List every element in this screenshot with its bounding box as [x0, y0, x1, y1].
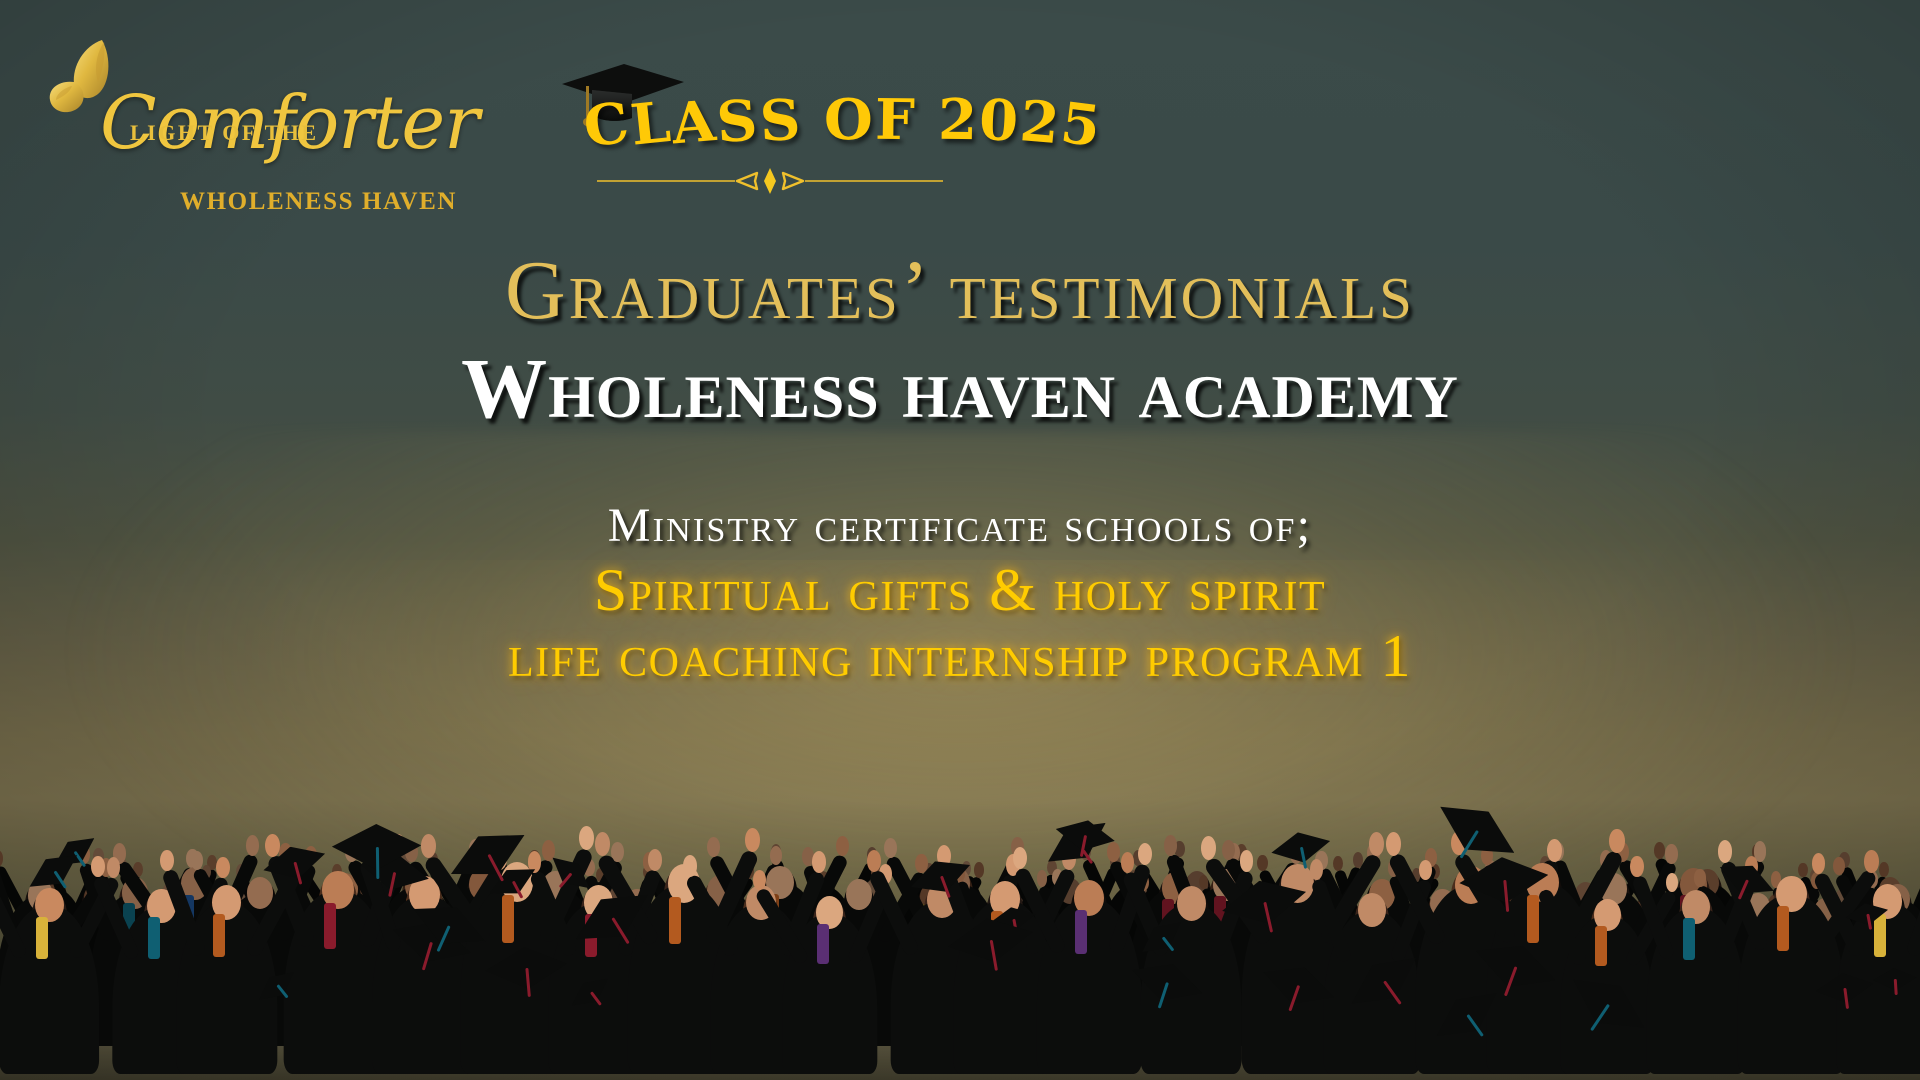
graduation-stole [1683, 918, 1695, 960]
program-line-2: life coaching internship program 1 [0, 622, 1920, 691]
graduate-figure [1829, 829, 1920, 1074]
flying-graduation-cap [1872, 967, 1918, 1000]
graduate-hand [1013, 847, 1027, 869]
graduate-hand [595, 832, 610, 856]
brand-logo: Comforter LIGHT OF THE WHOLENESS HAVEN [44, 28, 384, 208]
graduate-head [1358, 893, 1386, 927]
class-of-text: CLASS OF 2025 [584, 92, 1102, 158]
graduate-hand [160, 850, 174, 871]
class-of-banner: CLASS OF 2025 [540, 58, 1060, 168]
graduate-hand [753, 870, 766, 890]
graduation-stole [148, 917, 160, 959]
logo-sub-text: WHOLENESS HAVEN [180, 188, 457, 216]
raised-arm [1310, 877, 1352, 962]
graduate-hand [1121, 852, 1135, 873]
graduate-head [1177, 886, 1206, 921]
graduate-figure [775, 845, 885, 1074]
ornamental-divider [595, 168, 945, 194]
graduation-stole [1075, 910, 1087, 954]
ornamental-divider-icon [595, 168, 945, 194]
graduation-stole [1595, 926, 1607, 966]
program-line-1: Spiritual gifts & holy spirit [0, 556, 1920, 625]
graduation-stole [213, 914, 225, 957]
graduation-banner: Comforter LIGHT OF THE WHOLENESS HAVEN C… [0, 0, 1920, 1080]
graduation-stole [36, 917, 48, 959]
class-of-label: CLASS OF [584, 92, 916, 158]
graduate-hand [1386, 832, 1401, 856]
flying-graduation-cap [483, 944, 569, 1007]
class-year: 2025 [938, 92, 1102, 158]
graduate-hand [867, 850, 881, 872]
program-intro: Ministry certificate schools of; [0, 498, 1920, 553]
graduate-hand [1630, 856, 1643, 877]
logo-top-text: LIGHT OF THE [130, 120, 319, 146]
graduate-hand [683, 855, 697, 876]
page-title: Graduates’ testimonials [0, 242, 1920, 339]
graduation-stole [324, 903, 336, 949]
flying-graduation-cap [1813, 970, 1876, 1018]
cap-tassel [375, 847, 378, 879]
graduation-stole [1777, 906, 1789, 951]
flying-graduation-cap [331, 823, 421, 886]
graduation-stole [817, 924, 829, 964]
academy-title: Wholeness haven academy [0, 338, 1920, 438]
graduation-stole [669, 897, 681, 945]
raised-arm [161, 869, 206, 958]
